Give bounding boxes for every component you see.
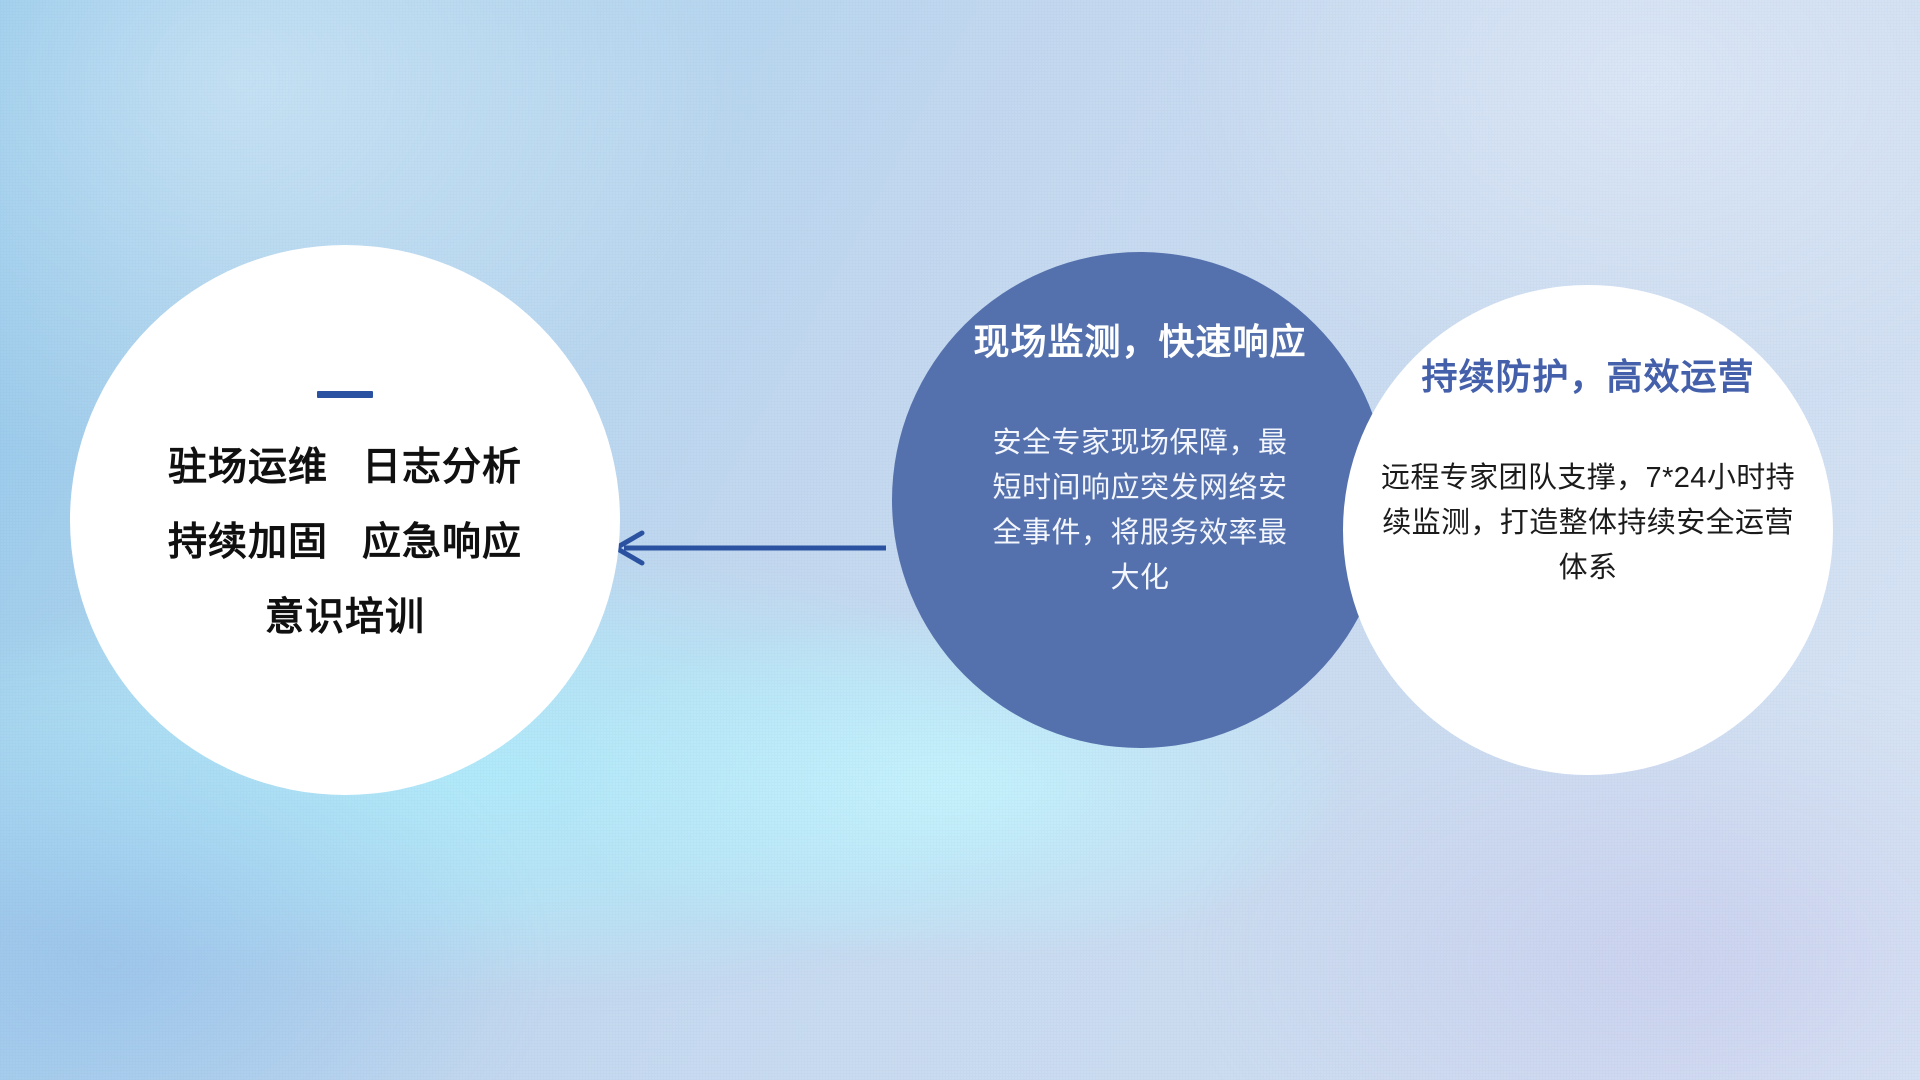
service-tag-list: 驻场运维 日志分析 持续加固 应急响应 意识培训 [168,448,522,639]
service-tag-row: 驻场运维 日志分析 [168,448,522,489]
service-tag-row: 持续加固 应急响应 [168,523,522,564]
service-tag: 日志分析 [362,448,522,489]
slide-canvas: 现场监测，快速响应 安全专家现场保障，最短时间响应突发网络安全事件，将服务效率最… [0,0,1920,1080]
service-tag: 意识培训 [265,598,425,639]
connector-arrow [600,520,890,576]
onsite-services-content: 驻场运维 日志分析 持续加固 应急响应 意识培训 [70,245,620,795]
service-tag-row: 意识培训 [265,598,425,639]
continuous-protection-content: 持续防护，高效运营 远程专家团队支撑，7*24小时持续监测，打造整体持续安全运营… [1343,285,1833,775]
continuous-protection-body: 远程专家团队支撑，7*24小时持续监测，打造整体持续安全运营体系 [1380,456,1796,591]
onsite-monitoring-body: 安全专家现场保障，最短时间响应突发网络安全事件，将服务效率最大化 [990,421,1290,601]
service-tag: 驻场运维 [168,448,328,489]
title-divider-dash [317,391,373,398]
onsite-monitoring-content: 现场监测，快速响应 安全专家现场保障，最短时间响应突发网络安全事件，将服务效率最… [892,252,1388,748]
service-tag: 应急响应 [362,523,522,564]
onsite-monitoring-title: 现场监测，快速响应 [973,320,1306,363]
service-tag: 持续加固 [168,523,328,564]
arrow-left-icon [600,520,890,576]
continuous-protection-title: 持续防护，高效运营 [1421,355,1754,398]
